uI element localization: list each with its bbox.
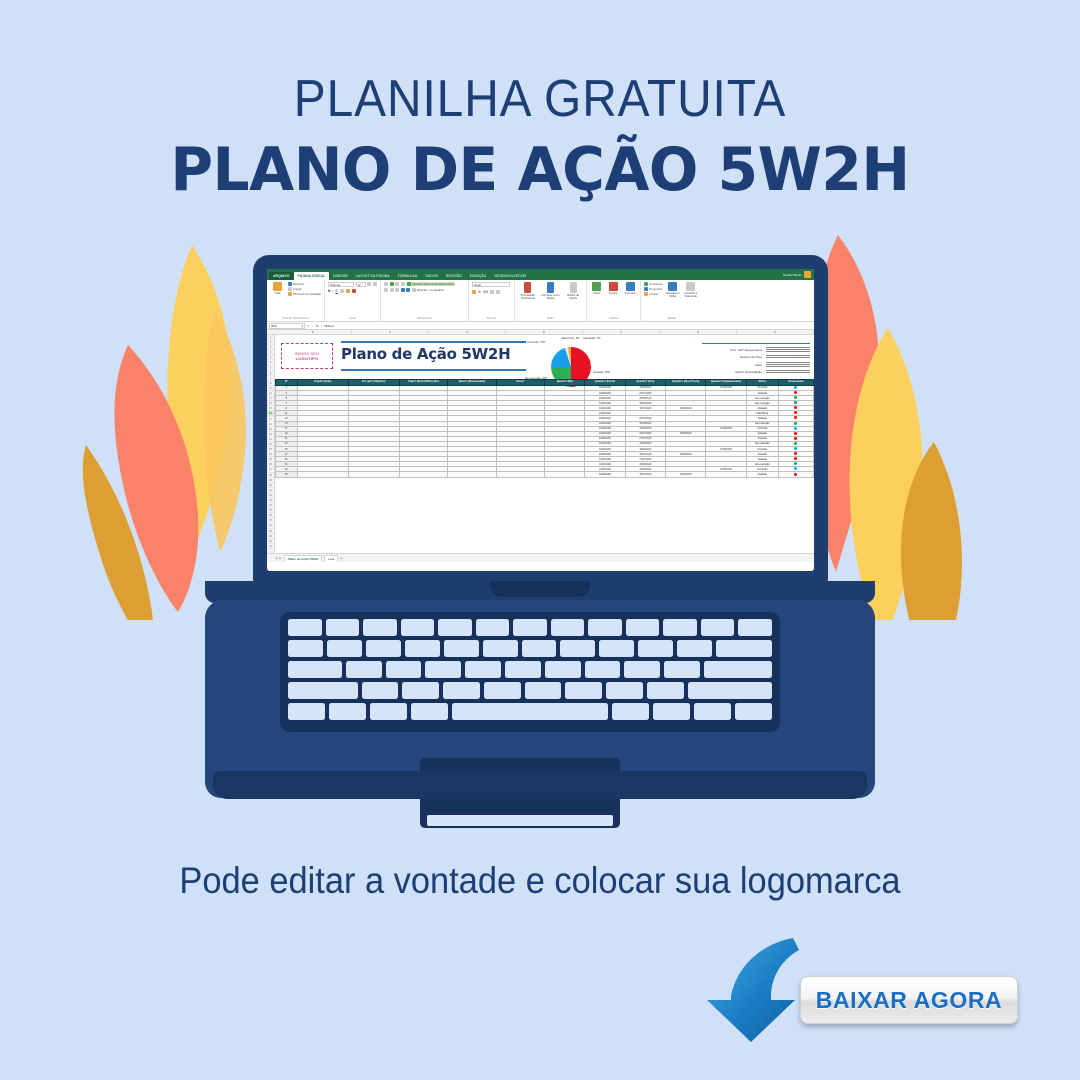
ribbon-group-clipboard: Colar Recortar Copiar Pincel de Formataç… — [267, 280, 325, 321]
status-dot — [794, 452, 797, 455]
key — [513, 619, 547, 636]
title-rule-bottom — [341, 369, 526, 371]
key — [346, 661, 382, 678]
key — [545, 661, 581, 678]
table-body: 101/08/202015/09/202027/08/2020Concluído… — [276, 385, 814, 477]
key — [677, 640, 712, 657]
key — [664, 661, 700, 678]
cell-styles-button[interactable]: Estilos de Célula — [563, 282, 583, 300]
pie-label-concluido: Concluído, 20% — [527, 341, 545, 344]
insert-function-icon[interactable]: fx — [316, 324, 319, 328]
currency-icon[interactable] — [472, 290, 476, 294]
status-dot — [794, 457, 797, 460]
page-title-top: PLANILHA GRATUITA — [43, 70, 1037, 128]
pie-label-cancelado: Cancelado, 2% — [583, 337, 601, 340]
format-as-table-button[interactable]: Formatar como Tabela — [541, 282, 561, 300]
key — [405, 640, 440, 657]
format-cells-button[interactable]: Formatar — [623, 282, 637, 295]
cell-style-icon — [570, 282, 577, 293]
user-account[interactable]: Herbert Bento — [783, 271, 811, 278]
merge-center-button[interactable]: Mesclar e Centralizar — [412, 288, 445, 292]
group-label-alignment: Alinhamento — [381, 317, 468, 320]
decrease-font-icon[interactable] — [373, 282, 377, 286]
name-box-value: B16 — [272, 324, 277, 328]
info-value-field[interactable] — [766, 347, 810, 352]
paste-label: Colar — [275, 292, 281, 295]
group-label-editing: Edição — [641, 317, 703, 320]
group-label-number: Número — [469, 317, 514, 320]
comma-style-button[interactable]: 000 — [483, 290, 488, 294]
info-rows: Prof. SGT ResponsávelGerente da ÁreaSeto… — [702, 344, 810, 380]
ribbon-tab-bar: ARQUIVO PÁGINA INICIAL INSERIR LAYOUT DA… — [267, 269, 814, 280]
sum-icon — [644, 282, 648, 286]
increase-decimal-icon[interactable] — [490, 290, 494, 294]
ribbon-tab-inserir[interactable]: INSERIR — [329, 272, 351, 281]
status-dot — [794, 432, 797, 435]
info-row: Motivo da Avaliação — [702, 370, 810, 375]
key — [438, 619, 472, 636]
key-enter — [704, 661, 772, 678]
info-label: Prof. SGT Responsável — [731, 348, 762, 352]
number-format-select[interactable]: Geral — [472, 282, 510, 287]
cell-status[interactable]: Atrasado — [746, 472, 778, 477]
info-value-field[interactable] — [766, 370, 810, 375]
key — [599, 640, 634, 657]
ribbon-group-cells: Inserir Excluir Formatar Células — [587, 280, 641, 321]
status-dot — [794, 396, 797, 399]
key-fn — [329, 703, 366, 720]
row-header-column: 1234567891011121314151617181920212223242… — [267, 335, 275, 553]
ribbon-tab-dados[interactable]: DADOS — [421, 272, 442, 281]
key — [638, 640, 673, 657]
key-win — [370, 703, 407, 720]
font-name-select[interactable]: Tahoma — [328, 282, 354, 287]
key — [465, 661, 501, 678]
format-icon — [626, 282, 635, 291]
ribbon-tab-desenvolvedor[interactable]: DESENVOLVEDOR — [491, 272, 531, 281]
orientation-icon[interactable] — [401, 282, 405, 286]
key-arrow — [735, 703, 772, 720]
keyboard-row — [288, 619, 772, 636]
align-left-icon[interactable] — [384, 288, 388, 292]
cell-onde[interactable] — [399, 472, 447, 477]
paste-icon — [273, 282, 282, 291]
ribbon-group-styles: Formatação Condicional Formatar como Tab… — [515, 280, 587, 321]
status-dot — [794, 406, 797, 409]
decrease-indent-icon[interactable] — [401, 288, 405, 292]
align-center-icon[interactable] — [390, 288, 394, 292]
download-button-label: BAIXAR AGORA — [816, 987, 1003, 1014]
sort-filter-icon — [668, 282, 677, 291]
formula-bar-row: B16 ▾ ✕ ✓ fx =B15+2 — [267, 322, 814, 330]
clear-button[interactable]: Limpar — [644, 292, 663, 296]
key — [647, 682, 684, 699]
excel-ribbon: Colar Recortar Copiar Pincel de Formataç… — [267, 280, 814, 322]
ribbon-group-number: Geral % 000 Número — [469, 280, 515, 321]
align-right-icon[interactable] — [395, 288, 399, 292]
status-dot — [794, 411, 797, 414]
ribbon-tab-layout-da-pagina[interactable]: LAYOUT DA PÁGINA — [352, 272, 394, 281]
key — [288, 640, 323, 657]
paste-button[interactable]: Colar — [270, 282, 286, 295]
logo-line-2: LOGOTIPO — [296, 356, 319, 361]
status-dot — [794, 437, 797, 440]
key-altgr — [612, 703, 649, 720]
chevron-down-icon[interactable]: ▾ — [301, 324, 303, 328]
key-space — [452, 703, 608, 720]
keyboard-row — [288, 640, 772, 657]
cell-numero[interactable]: 35 — [276, 472, 298, 477]
delete-icon — [609, 282, 618, 291]
info-label: Setor — [755, 363, 762, 367]
column-header-h[interactable]: H — [737, 331, 814, 334]
key — [362, 682, 399, 699]
status-dot — [794, 427, 797, 430]
info-value-field[interactable] — [766, 362, 810, 367]
column-header-c[interactable]: C — [352, 331, 429, 334]
sheet-tab-leia[interactable]: Leia — [324, 555, 338, 562]
laptop-keyboard — [280, 612, 780, 732]
info-row: Setor — [702, 362, 810, 367]
pie-label-falta-prazo: Falta Prazo, 3% — [561, 337, 579, 340]
cell-quando-novo-prazo[interactable]: 15/08/2020 — [665, 472, 705, 477]
ribbon-tab-pagina-inicial[interactable]: PÁGINA INICIAL — [294, 272, 330, 281]
copy-button[interactable]: Copiar — [288, 287, 321, 291]
page-title-main: PLANO DE AÇÃO 5W2H — [16, 134, 1064, 206]
key — [551, 619, 585, 636]
title-rule-top — [341, 341, 526, 343]
group-label-cells: Células — [587, 317, 640, 320]
spreadsheet-grid: 1234567891011121314151617181920212223242… — [267, 335, 814, 553]
key — [483, 640, 518, 657]
ribbon-group-font: Tahoma 12 N I S — [325, 280, 381, 321]
font-size-select[interactable]: 12 — [356, 282, 366, 287]
align-top-icon[interactable] — [384, 282, 388, 286]
column-header-e[interactable]: E — [506, 331, 583, 334]
status-dot — [794, 462, 797, 465]
delete-cells-button[interactable]: Excluir — [607, 282, 621, 295]
borders-icon[interactable] — [340, 289, 344, 293]
next-sheet-icon[interactable]: ▶ — [279, 556, 281, 560]
align-bottom-icon[interactable] — [395, 282, 399, 286]
key — [444, 640, 479, 657]
cell-quando-inicio[interactable]: 01/08/2020 — [585, 472, 625, 477]
table-row[interactable]: 3501/08/202015/07/202015/08/2020Atrasado — [276, 472, 814, 477]
align-middle-icon[interactable] — [390, 282, 394, 286]
key-alt — [411, 703, 448, 720]
column-header-d[interactable]: D — [429, 331, 506, 334]
logo-placeholder[interactable]: INSIRA SEU LOGOTIPO — [281, 343, 333, 369]
table-icon — [547, 282, 554, 293]
key — [401, 619, 435, 636]
keyboard-row — [288, 682, 772, 699]
key — [624, 661, 660, 678]
key — [525, 682, 562, 699]
new-sheet-icon[interactable]: ⊕ — [340, 556, 343, 560]
cell-quando-fim[interactable]: 15/07/2020 — [625, 472, 665, 477]
status-dot — [794, 447, 797, 450]
ribbon-tab-arquivo[interactable]: ARQUIVO — [269, 272, 294, 281]
sheet-tab-plano-de-acao[interactable]: Plano de Ação 5W2H — [284, 555, 323, 562]
headline-block: PLANILHA GRATUITA PLANO DE AÇÃO 5W2H — [0, 70, 1080, 206]
bold-button[interactable]: N — [328, 289, 330, 293]
key — [326, 619, 360, 636]
avatar — [804, 271, 811, 278]
fill-icon — [644, 287, 648, 291]
increase-indent-icon[interactable] — [406, 288, 410, 292]
italic-button[interactable]: I — [332, 289, 333, 293]
key — [443, 682, 480, 699]
conditional-formatting-button[interactable]: Formatação Condicional — [518, 282, 538, 300]
key — [588, 619, 622, 636]
key — [663, 619, 697, 636]
status-dot — [794, 422, 797, 425]
insert-cells-button[interactable]: Inserir — [590, 282, 604, 295]
cell-o-que[interactable] — [297, 472, 348, 477]
key-ctrl — [288, 703, 325, 720]
copy-icon — [288, 287, 292, 291]
cell-por-que[interactable] — [348, 472, 399, 477]
status-dot — [794, 401, 797, 404]
status-dot — [794, 467, 797, 470]
status-dot — [794, 391, 797, 394]
key — [386, 661, 422, 678]
key-backspace — [716, 640, 772, 657]
sheet-tab-bar: ◀ ▶ Plano de Ação 5W2H Leia ⊕ — [267, 553, 814, 562]
group-label-clipboard: Área de Transferência — [267, 317, 324, 320]
eraser-icon — [644, 292, 648, 296]
key — [626, 619, 660, 636]
info-label: Gerente da Área — [740, 355, 762, 359]
ribbon-tab-formulas[interactable]: FÓRMULAS — [394, 272, 422, 281]
user-name-label: Herbert Bento — [783, 273, 802, 277]
key — [327, 640, 362, 657]
key-ctrl-right — [694, 703, 731, 720]
formula-input[interactable]: =B15+2 — [321, 324, 812, 328]
info-label: Motivo da Avaliação — [735, 370, 762, 374]
cta-block: BAIXAR AGORA — [695, 930, 1025, 1050]
cell-quem[interactable] — [448, 472, 496, 477]
group-label-font: Fonte — [325, 317, 380, 320]
laptop-mockup: ARQUIVO PÁGINA INICIAL INSERIR LAYOUT DA… — [205, 255, 875, 825]
column-header-f[interactable]: F — [583, 331, 660, 334]
font-color-icon[interactable] — [352, 289, 356, 293]
key — [585, 661, 621, 678]
conditional-format-icon — [524, 282, 531, 293]
status-dot — [794, 386, 797, 389]
keyboard-row — [288, 703, 772, 720]
fill-color-icon[interactable] — [346, 289, 350, 293]
key — [425, 661, 461, 678]
fill-button[interactable]: Preencher — [644, 287, 663, 291]
merge-cells-icon — [412, 288, 416, 292]
column-header-g[interactable]: G — [660, 331, 737, 334]
key — [738, 619, 772, 636]
key — [402, 682, 439, 699]
status-dot — [794, 442, 797, 445]
cell-como[interactable] — [496, 472, 544, 477]
column-header-b[interactable]: B — [275, 331, 352, 334]
increase-font-icon[interactable] — [367, 282, 371, 286]
cancel-formula-icon[interactable]: ✕ — [307, 324, 310, 328]
info-row: Gerente da Área — [702, 355, 810, 360]
wrap-text-icon — [407, 282, 411, 286]
action-plan-table: NºO Quê? (Ação)Por quê? (Objetivo)Onde? … — [275, 379, 814, 478]
key — [560, 640, 595, 657]
prev-sheet-icon[interactable]: ◀ — [275, 556, 277, 560]
laptop-hinge-notch — [490, 581, 590, 597]
key — [505, 661, 541, 678]
percent-button[interactable]: % — [478, 290, 481, 294]
key — [565, 682, 602, 699]
key-shift-right — [688, 682, 772, 699]
find-select-button[interactable]: Localizar e Selecionar — [683, 282, 699, 298]
project-info-panel: Prof. SGT ResponsávelGerente da ÁreaSeto… — [702, 343, 810, 382]
excel-titlebar: ARQUIVO PÁGINA INICIAL INSERIR LAYOUT DA… — [267, 269, 814, 280]
format-painter-button[interactable]: Pincel de Formatação — [288, 292, 321, 296]
key-shift-left — [288, 682, 358, 699]
ribbon-group-editing: AutoSoma Preencher Limpar Classificar e … — [641, 280, 703, 321]
cell-observacoes[interactable] — [778, 472, 813, 477]
laptop-screen: ARQUIVO PÁGINA INICIAL INSERIR LAYOUT DA… — [267, 269, 814, 571]
paintbrush-icon — [288, 292, 292, 296]
keyboard-row — [288, 661, 772, 678]
laptop-base-foot — [213, 771, 867, 799]
name-box[interactable]: B16 ▾ — [269, 323, 305, 329]
binoculars-icon — [686, 282, 695, 291]
key-menu — [653, 703, 690, 720]
laptop-trackpad-button — [427, 815, 613, 826]
key-tab — [288, 661, 342, 678]
pie-label-atrasado: Atrasado, 50% — [593, 371, 610, 374]
cut-button[interactable]: Recortar — [288, 282, 321, 286]
sheet-title: Plano de Ação 5W2H — [341, 345, 510, 363]
info-row: Prof. SGT Responsável — [702, 347, 810, 352]
key — [484, 682, 521, 699]
group-label-styles: Estilo — [515, 317, 586, 320]
laptop-base — [205, 600, 875, 798]
autosum-button[interactable]: AutoSoma — [644, 282, 663, 286]
download-button[interactable]: BAIXAR AGORA — [800, 976, 1018, 1024]
scissors-icon — [288, 282, 292, 286]
laptop-lid: ARQUIVO PÁGINA INICIAL INSERIR LAYOUT DA… — [253, 255, 828, 585]
cell-quanto[interactable] — [544, 472, 584, 477]
confirm-formula-icon[interactable]: ✓ — [312, 324, 315, 328]
key — [363, 619, 397, 636]
decrease-decimal-icon[interactable] — [496, 290, 500, 294]
tagline: Pode editar a vontade e colocar sua logo… — [38, 860, 1042, 902]
ribbon-tab-exibicao[interactable]: EXIBIÇÃO — [466, 272, 491, 281]
sort-filter-button[interactable]: Classificar e Filtrar — [665, 282, 681, 298]
excel-window: ARQUIVO PÁGINA INICIAL INSERIR LAYOUT DA… — [267, 269, 814, 571]
status-dot — [794, 416, 797, 419]
cell-quando-implementado[interactable] — [706, 472, 746, 477]
key — [476, 619, 510, 636]
ribbon-tab-revisao[interactable]: REVISÃO — [442, 272, 466, 281]
key — [366, 640, 401, 657]
row-header-cell[interactable]: 42 — [267, 544, 274, 549]
underline-button[interactable]: S — [335, 289, 337, 293]
sheet-content: INSIRA SEU LOGOTIPO Plano de Ação 5W2H C… — [275, 335, 814, 553]
wrap-text-button[interactable]: Quebrar Texto Automaticamente — [406, 282, 455, 286]
status-dot — [794, 473, 797, 476]
insert-icon — [592, 282, 601, 291]
key — [701, 619, 735, 636]
info-value-field[interactable] — [766, 355, 810, 360]
ribbon-group-alignment: Quebrar Texto Automaticamente — [381, 280, 469, 321]
key — [288, 619, 322, 636]
key — [606, 682, 643, 699]
key — [522, 640, 557, 657]
